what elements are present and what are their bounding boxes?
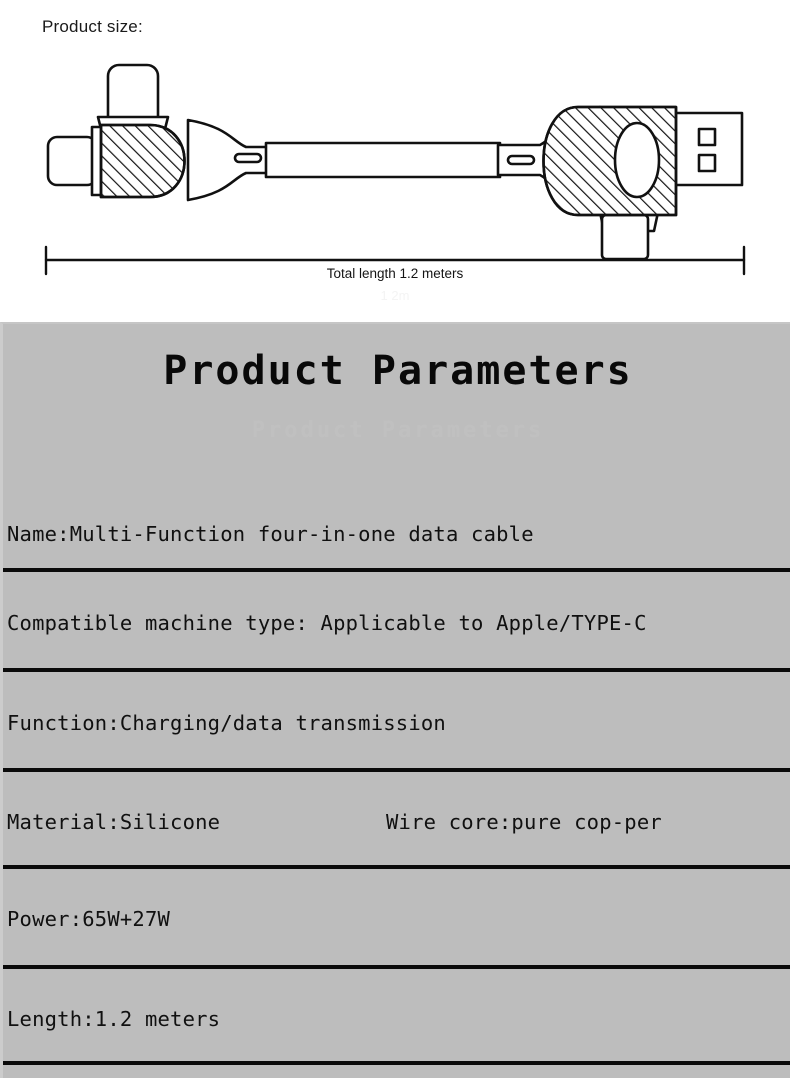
- parameter-function: Function:Charging/data transmission: [7, 711, 446, 735]
- lightning-connector: [48, 127, 104, 195]
- cable-cord: [266, 143, 500, 177]
- product-parameters-title: Product Parameters: [3, 348, 790, 394]
- parameter-length: Length:1.2 meters: [7, 1007, 220, 1031]
- parameter-material: Material:Silicone: [7, 810, 220, 834]
- product-size-section: Product size:: [0, 0, 790, 322]
- left-connector-body: [101, 125, 185, 197]
- left-indicator-slot: [235, 154, 261, 162]
- parameter-row: Compatible machine type: Applicable to A…: [3, 572, 790, 672]
- product-parameters-panel: Product Parameters Product Parameters Na…: [0, 322, 790, 1078]
- parameter-row: Material:Silicone Wire core:pure cop-per: [3, 772, 790, 869]
- parameter-row: Power:65W+27W: [3, 869, 790, 969]
- total-length-label: Total length 1.2 meters: [0, 266, 790, 281]
- parameter-name: Name:Multi-Function four-in-one data cab…: [7, 522, 534, 546]
- parameter-row: Function:Charging/data transmission: [3, 672, 790, 772]
- row-divider: [3, 1061, 790, 1065]
- parameter-compatible-machine-type: Compatible machine type: Applicable to A…: [7, 611, 647, 635]
- cable-diagram: [0, 55, 790, 285]
- right-indicator-slot: [508, 156, 534, 164]
- parameter-power: Power:65W+27W: [7, 907, 170, 931]
- parameter-row: Length:1.2 meters: [3, 969, 790, 1065]
- parameter-wire-core: Wire core:pure cop-per: [386, 810, 662, 834]
- usb-a-connector: [672, 113, 742, 185]
- right-connector-body: [544, 107, 677, 215]
- parameter-row: Name:Multi-Function four-in-one data cab…: [3, 418, 790, 572]
- product-size-caption: Product size:: [42, 17, 143, 37]
- white-band-ghost-text: 1 2m: [381, 288, 410, 303]
